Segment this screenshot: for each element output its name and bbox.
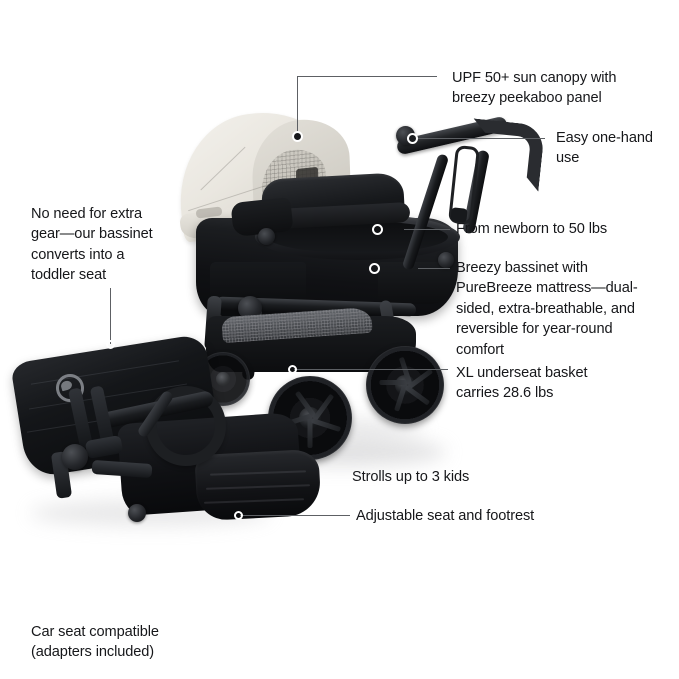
leader-line-adjustable-seat (240, 515, 350, 516)
callout-sun-canopy: UPF 50+ sun canopy with breezy peekaboo … (452, 68, 672, 109)
callout-adjustable-seat: Adjustable seat and footrest (356, 506, 616, 526)
leader-line-weight-range (404, 229, 450, 230)
seat-mount-joint (62, 444, 88, 470)
frame-joint-mid (438, 252, 454, 268)
canopy-hinge (258, 228, 275, 245)
marker-dot-adjustable-seat[interactable] (234, 511, 243, 520)
marker-dot-weight-range[interactable] (372, 224, 383, 235)
wheel-rear-right (366, 346, 444, 424)
callout-car-seat-compatible: Car seat compatible (adapters included) (31, 622, 251, 663)
callout-weight-range: From newborn to 50 lbs (456, 219, 676, 239)
wheel-spoke (313, 394, 335, 421)
leader-line-sun-canopy-v (297, 76, 298, 136)
leader-line-converts (110, 288, 111, 344)
marker-dot-one-hand[interactable] (407, 133, 418, 144)
wheel-hub (216, 372, 230, 386)
marker-dot-sun-canopy[interactable] (292, 131, 303, 142)
leader-line-basket (294, 369, 448, 370)
callout-one-hand-use: Easy one-hand use (556, 128, 679, 169)
callout-underseat-basket: XL underseat basket carries 28.6 lbs (456, 363, 668, 404)
marker-dot-converts[interactable] (106, 340, 115, 349)
callout-strolls-3-kids: Strolls up to 3 kids (352, 467, 552, 487)
callout-bassinet-converts: No need for extra gear—our bassinet conv… (31, 204, 191, 286)
marker-dot-basket[interactable] (288, 365, 297, 374)
seat-lower-joint (128, 504, 146, 522)
infographic-canvas: UPF 50+ sun canopy with breezy peekaboo … (0, 0, 679, 679)
leader-line-one-hand (412, 138, 545, 139)
callout-breezy-bassinet: Breezy bassinet with PureBreeze mattress… (456, 258, 674, 360)
wheel-spoke (380, 380, 408, 385)
seat-mount-bar (92, 460, 153, 478)
marker-dot-bassinet[interactable] (369, 263, 380, 274)
wheel-spoke (405, 385, 431, 406)
leader-line-sun-canopy-h (297, 76, 437, 77)
leader-line-bassinet (418, 268, 450, 269)
